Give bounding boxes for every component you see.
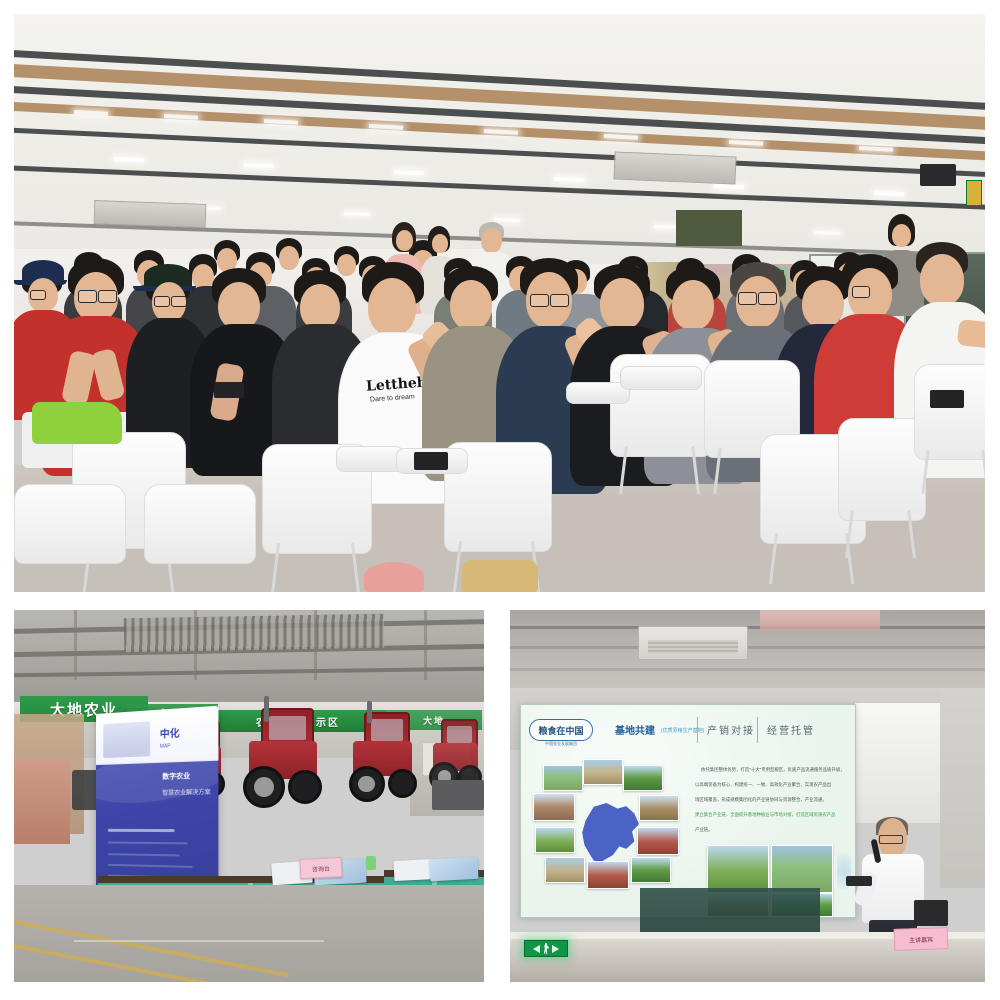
attendee-head [920,254,964,306]
front-table [640,888,820,938]
tractor [344,710,420,802]
tractor-glass [447,726,472,744]
attendee-head [337,254,356,276]
glasses-icon [852,286,870,298]
tractor-rear-wheel [349,766,385,802]
conference-chair [144,484,254,592]
slide-body-line: 依托集团整体优势，打造"十大"专用型粮区，优质产品流通服务品质升级， [701,767,847,773]
slide-body-line: 境区域覆盖，形成规模集团化的产业链协同与资源整合，产业流通。 [695,797,847,803]
phone-on-tablet [414,452,448,470]
slide-thumbnail [639,795,679,821]
attendee-head [481,228,502,253]
machinery-implement [432,780,484,810]
attendee-head [218,282,260,330]
ceiling-ac-vent [613,151,736,184]
slide-tab: 经营托管 [767,722,815,737]
attendee-head [432,234,448,253]
attendee-head [600,278,644,330]
slide-body-line: 产业链。 [695,827,755,833]
ceiling-ac-vent [94,200,207,228]
chair-back [144,484,256,564]
conference-chair [14,484,124,592]
lecture-side-wall [940,688,985,888]
phone-on-tablet [930,390,964,408]
tractor-rear-wheel [243,766,285,808]
pink-object [364,562,424,592]
slide-tab-active: 基地共建 [615,722,655,737]
bottle [366,856,376,870]
photo-collage: Lettheheq Dare to dream [0,0,1000,1000]
slide-thumbnail [543,765,583,791]
glasses-icon [738,292,757,305]
chair-leg [981,450,985,494]
attendee-head [368,278,416,336]
roof-rib [194,610,197,680]
beige-bag [462,560,538,592]
attendee-head [450,280,492,330]
slide-logo: 粮食在中国 [529,719,593,741]
slide-thumbnail [623,765,663,791]
tablet-surface [620,366,702,390]
glasses-icon [758,292,777,305]
banner-text-line [107,828,174,831]
banner-logo: 中化 [160,725,180,741]
tractor-front-wheel [388,769,417,798]
speaker-name-card: 主讲嘉宾 [894,927,949,951]
exit-arrow-left-icon [533,945,540,953]
glasses-icon [78,290,97,303]
projector-screen: 粮食在中国 中国农业发展集团 基地共建 (优质原粮生产基地) 产销对接 经营托管… [520,704,856,918]
tractor-front-wheel [288,770,322,804]
roof-rib [74,610,77,680]
banner-text-line [107,864,192,868]
banner-text-line [107,842,187,845]
tractor-glass [371,719,403,741]
phone-on-tablet [214,382,244,398]
side-display [676,210,742,246]
glasses-icon [879,835,903,845]
side-booth-products [14,760,70,844]
green-bag [32,402,122,444]
tractor-exhibition-photo: 大地农业 大地 农机装备展示区 大地 [14,610,484,982]
banner-text-line [107,853,179,856]
slide-thumbnail [545,857,585,883]
attendee-head [279,246,299,270]
chair-back [914,364,985,460]
lecture-presentation-photo: 粮食在中国 中国农业发展集团 基地共建 (优质原粮生产基地) 产销对接 经营托管… [510,610,985,982]
air-conditioner [638,626,748,660]
ceiling-lightbox [760,610,880,630]
wall-panel [854,702,952,824]
slide-body-line-highlight: 建立集合产业链，全面提升基地种植业与市场对接，打造区域优质农产品 [695,812,847,818]
slide-thumbnail [535,827,575,853]
chair-back [838,418,926,521]
attendee-head [892,224,911,247]
conference-chair [262,444,370,592]
banner-title: 数字农业 [162,770,190,781]
glasses-icon [154,296,170,307]
glasses-icon [171,296,187,307]
glasses-icon [530,294,549,307]
ceiling-reveal [510,668,985,671]
chair-back [14,484,126,564]
exit-arrow-right-icon [552,945,559,953]
chair-tablet-arm [620,366,700,388]
wall-sign-icon [966,180,982,206]
counter-sign: 咨询台 [300,857,343,879]
slide-thumbnail [587,861,629,889]
attendee-head [672,280,714,330]
slide-thumbnail [631,857,671,883]
banner-body: 智慧农业解决方案 [162,786,210,796]
slide-tab: 产销对接 [707,722,755,737]
conference-chair [914,364,985,494]
slide-logo-sub: 中国农业发展集团 [527,741,595,747]
chair-tablet-arm [336,446,404,472]
wall-speaker-icon [920,164,956,186]
equipment-box [914,900,948,926]
attendee-head [396,230,413,251]
slide-tab-divider [757,717,758,743]
slide-thumbnail [637,827,679,855]
slide-tab-divider [697,717,698,743]
tractor-exhaust [367,701,372,723]
exit-sign-icon [524,940,568,957]
roof-truss [124,614,385,653]
brochure [429,857,478,881]
clicker-device [846,876,872,886]
glasses-icon [98,290,117,303]
roof-rib [314,610,317,680]
glasses-icon [550,294,569,307]
tractor-glass [269,716,306,740]
exit-running-person-icon [543,943,549,954]
conference-chair [838,418,924,558]
slide-thumbnail [707,845,769,893]
ac-vent-grille [648,640,739,654]
tractor [238,706,326,808]
roof-rib [424,610,427,680]
floor-seam [74,940,324,942]
slide-thumbnail [771,845,833,893]
glasses-icon [30,290,46,300]
seminar-audience-photo: Lettheheq Dare to dream [14,14,985,592]
china-map-graphic [581,803,639,865]
slide-thumbnail [533,793,575,821]
slide-body-line: 以高端装备为核心，构建统一、一致、高效化产业聚合，实现农产品出 [695,782,847,788]
slide-thumbnail [583,759,623,785]
tractor-exhaust [264,696,269,722]
